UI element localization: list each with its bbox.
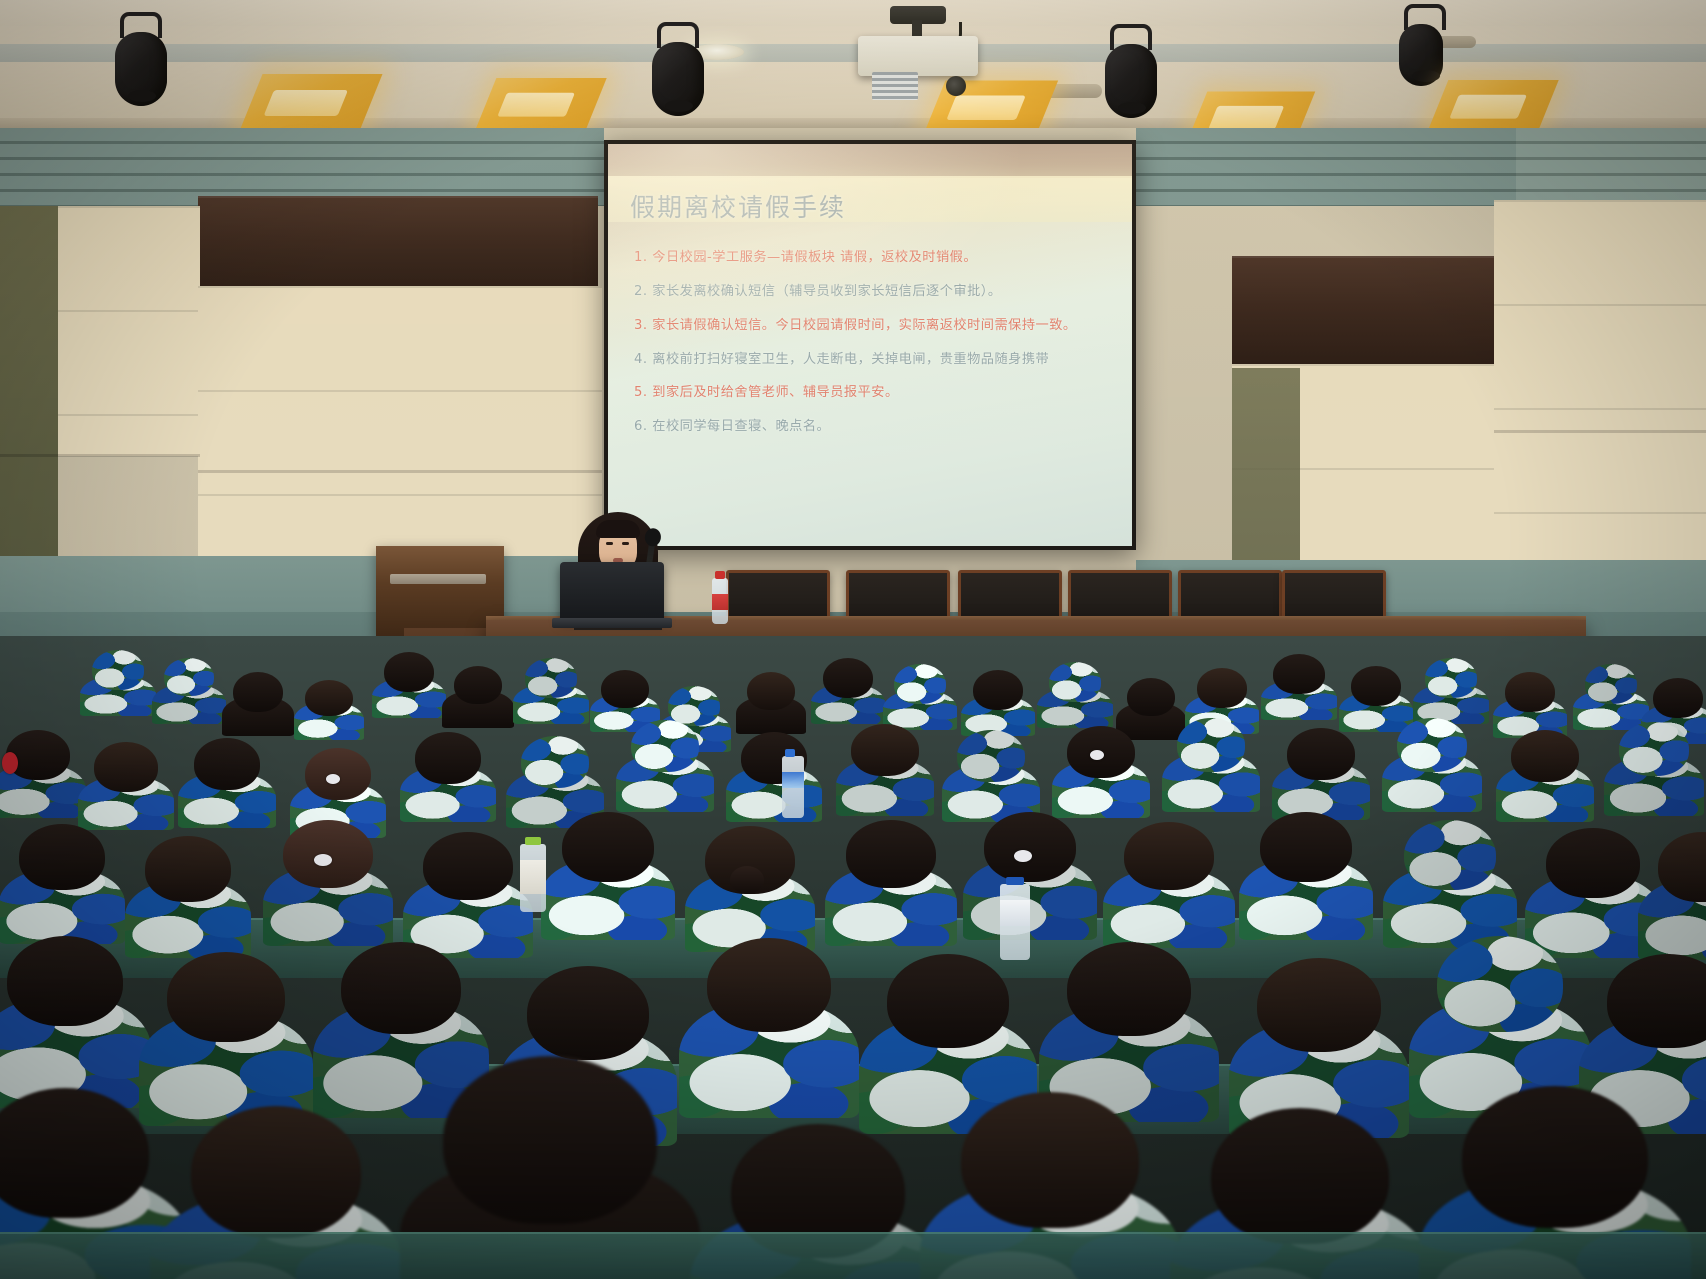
projection-screen: 假期离校请假手续 1. 今日校园-学工服务—请假板块 请假，返校及时销假。 2.…: [604, 140, 1136, 550]
bottle-cap: [715, 571, 725, 579]
camo-cap: [1397, 718, 1467, 772]
water-bottle: [712, 578, 728, 624]
slide-surface: 假期离校请假手续 1. 今日校园-学工服务—请假板块 请假，返校及时销假。 2.…: [608, 144, 1132, 546]
audience-head: [1273, 654, 1325, 694]
audience-head: [94, 742, 158, 792]
projector-grill: [872, 72, 918, 100]
slide-title: 假期离校请假手续: [630, 188, 1110, 224]
wall-seam: [1494, 430, 1706, 433]
audience-member: [880, 954, 1016, 1112]
bottle-label: [1000, 900, 1030, 926]
laptop: [560, 562, 664, 620]
audience-member: [890, 664, 950, 722]
audience-head: [1287, 728, 1355, 780]
audience-head: [851, 724, 919, 776]
audience-head: [1197, 668, 1247, 708]
audience-member: [1430, 936, 1570, 1096]
audience-head: [1127, 678, 1175, 716]
audience-member: [700, 826, 800, 936]
audience-member: [0, 936, 130, 1086]
audience-member: [1254, 812, 1358, 924]
spotlight-lens: [1412, 70, 1440, 82]
audience-head: [423, 832, 513, 900]
camo-cap: [164, 658, 214, 696]
audience-head: [961, 1092, 1139, 1228]
wall-seam: [0, 454, 200, 457]
wall-seam: [198, 470, 602, 473]
audience-member: [1250, 958, 1388, 1116]
hair-scrunchie: [314, 854, 332, 866]
spotlight-head: [1399, 24, 1443, 86]
audience-head: [167, 952, 285, 1042]
photo-scene: 假期离校请假手续 1. 今日校园-学工服务—请假板块 请假，返校及时销假。 2.…: [0, 0, 1706, 1279]
audience-member: [86, 650, 150, 710]
audience-member: [160, 952, 292, 1104]
audience-head: [1257, 958, 1381, 1052]
audience-head: [601, 670, 649, 708]
camo-cap: [957, 730, 1025, 782]
projector-body: [858, 36, 978, 76]
audience-member: [88, 742, 164, 818]
wall-slat-band: [200, 128, 604, 206]
audience-head: [454, 666, 502, 704]
presenter-eye-right: [622, 542, 629, 545]
audience-head: [887, 954, 1009, 1048]
audience-head: [7, 936, 123, 1026]
audience-member: [0, 730, 76, 806]
spotlight-lens: [665, 100, 693, 112]
camo-cap: [1177, 718, 1245, 772]
audience-head: [527, 966, 649, 1060]
audience-head: [305, 748, 371, 800]
audience-member: [158, 658, 220, 716]
slide-bullet-number: 4.: [634, 352, 648, 367]
camo-cap: [1585, 664, 1637, 704]
audience-member: [140, 836, 236, 942]
wall-panel-cream: [198, 286, 602, 586]
wall-panel-cream: [1494, 200, 1706, 604]
wall-slat-band: [1136, 128, 1516, 206]
slide-bullet-6: 6. 在校同学每日查寝、晚点名。: [634, 419, 1112, 435]
bottle-label: [782, 772, 804, 788]
audience-head: [384, 652, 434, 692]
slide-top-shadow: [608, 144, 1132, 178]
hair-scrunchie: [1014, 850, 1032, 862]
panel-light-plate: [473, 78, 606, 135]
audience-member: [300, 680, 358, 734]
audience-member: [952, 730, 1030, 810]
audience-member: [188, 738, 266, 816]
audience-head: [707, 938, 831, 1032]
track-spotlight-icon: [645, 22, 711, 118]
wall-slat-band: [1516, 128, 1706, 206]
slide-bullet-5: 5. 到家后及时给舍管老师、辅导员报平安。: [634, 385, 1112, 401]
camo-cap: [1049, 662, 1101, 702]
audience-head: [973, 670, 1023, 710]
spotlight-lens: [128, 90, 156, 102]
audience-head: [1260, 812, 1352, 882]
wall-column-olive: [0, 206, 58, 606]
audience-member: [1118, 822, 1220, 932]
audience-member: [1500, 672, 1560, 730]
slide-bullet-1: 1. 今日校园-学工服务—请假板块 请假，返校及时销假。: [634, 250, 1112, 266]
audience-member: [1060, 942, 1198, 1100]
audience-head: [283, 820, 373, 888]
audience-head: [1653, 678, 1703, 718]
audience-member: [14, 824, 110, 928]
audience-head: [191, 1106, 361, 1238]
audience-head: [846, 820, 936, 888]
audience-member: [228, 672, 288, 728]
audience-head: [145, 836, 231, 902]
presenter-bangs: [596, 520, 640, 538]
spotlight-lens: [1118, 102, 1146, 114]
slide-bullet-2: 2. 家长发离校确认短信（辅导员收到家长短信后逐个审批）。: [634, 284, 1112, 300]
audience-member: [556, 812, 660, 924]
audience-head: [443, 1056, 657, 1224]
audience-head: [0, 1088, 149, 1218]
audience-head: [823, 658, 873, 698]
slide-bullet-number: 6.: [634, 419, 648, 434]
audience-head: [1607, 954, 1706, 1048]
audience-member: [1420, 658, 1482, 716]
seat-row-front: [0, 1232, 1706, 1279]
audience-member: [818, 658, 878, 716]
audience-head: [562, 812, 654, 882]
audience-member: [1540, 828, 1646, 942]
audience-member: [1580, 664, 1642, 722]
slide-bullet-number: 5.: [634, 385, 648, 400]
bottle-cap: [1006, 877, 1024, 885]
audience-head: [747, 672, 795, 710]
ceiling-projector-icon: [852, 6, 984, 90]
camo-cap: [1425, 658, 1477, 698]
audience-member: [300, 748, 376, 826]
audience-member: [968, 670, 1028, 728]
audience-member: [840, 820, 942, 930]
audience-member: [1506, 730, 1584, 810]
audience-member: [1398, 820, 1502, 932]
audience-area: [0, 636, 1706, 1279]
audience-head: [1505, 672, 1555, 712]
camo-cap: [92, 650, 144, 690]
hair-scrunchie: [326, 774, 340, 784]
audience-member: [1346, 666, 1406, 724]
audience-member: [448, 666, 508, 722]
audience-head: [341, 942, 461, 1034]
bottle-label: [520, 860, 546, 894]
lectern: [376, 546, 504, 638]
track-spotlight-icon: [1392, 4, 1448, 84]
spotlight-head: [115, 32, 167, 106]
slide-bullet-text: 家长发离校确认短信（辅导员收到家长短信后逐个审批）。: [652, 284, 1001, 299]
audience-head: [305, 680, 353, 716]
slide-bullet-3: 3. 家长请假确认短信。今日校园请假时间，实际离返校时间需保持一致。: [634, 318, 1112, 334]
slide-bullet-number: 2.: [634, 284, 648, 299]
audience-head: [194, 738, 260, 790]
slide-bullet-text: 到家后及时给舍管老师、辅导员报平安。: [652, 385, 898, 400]
water-bottle: [782, 756, 804, 818]
audience-member: [1282, 728, 1360, 808]
camo-cap: [631, 720, 699, 772]
track-spotlight-icon: [108, 12, 174, 108]
camo-cap: [521, 736, 589, 788]
wall-slat-band: [0, 128, 200, 206]
audience-member: [626, 720, 704, 800]
audience-head: [233, 672, 283, 712]
spotlight-head: [1105, 44, 1157, 118]
audience-head: [1511, 730, 1579, 782]
camo-cap: [1404, 820, 1496, 890]
camo-cap: [1619, 722, 1689, 776]
bottle-cap: [785, 749, 795, 757]
spotlight-head: [652, 42, 704, 116]
audience-head: [1546, 828, 1640, 898]
audience-member: [742, 672, 800, 728]
audience-member: [1614, 722, 1694, 804]
audience-member: [1268, 654, 1330, 712]
water-bottle: [1000, 884, 1030, 960]
slide-body: 1. 今日校园-学工服务—请假板块 请假，返校及时销假。 2. 家长发离校确认短…: [634, 250, 1112, 453]
audience-head: [984, 812, 1076, 882]
hair-bun: [730, 866, 764, 894]
slide-bullet-4: 4. 离校前打扫好寝室卫生，人走断电，关掉电闸，贵重物品随身携带: [634, 352, 1112, 368]
audience-head: [1462, 1086, 1648, 1228]
panel-light-plate: [237, 74, 382, 136]
slide-bullet-text: 家长请假确认短信。今日校园请假时间，实际离返校时间需保持一致。: [652, 318, 1076, 333]
audience-member: [978, 812, 1082, 924]
audience-head: [1351, 666, 1401, 706]
audience-member: [1062, 726, 1140, 806]
slide-bullet-text: 今日校园-学工服务—请假板块 请假，返校及时销假。: [652, 250, 977, 265]
audience-member: [596, 670, 654, 726]
slide-bullet-number: 3.: [634, 318, 648, 333]
track-spotlight-icon: [1098, 24, 1164, 120]
slide-bullet-text: 在校同学每日查寝、晚点名。: [652, 419, 830, 434]
audience-member: [278, 820, 378, 930]
bottle-cap: [525, 837, 541, 845]
audience-member: [1044, 662, 1106, 720]
slide-bullet-number: 1.: [634, 250, 648, 265]
audience-head: [1124, 822, 1214, 890]
thermos-bottle: [520, 844, 546, 912]
presenter-eye-left: [606, 542, 613, 545]
audience-member: [378, 652, 440, 710]
audience-member: [520, 658, 582, 716]
audience-head: [1067, 942, 1191, 1036]
audience-head: [19, 824, 105, 890]
camo-cap: [894, 664, 946, 704]
audience-member: [846, 724, 924, 804]
audience-member: [1392, 718, 1472, 800]
bottle-label: [712, 594, 728, 610]
audience-member: [700, 938, 838, 1096]
camo-cap: [525, 658, 577, 698]
slide-bullet-text: 离校前打扫好寝室卫生，人走断电，关掉电闸，贵重物品随身携带: [652, 352, 1049, 367]
audience-member: [418, 832, 518, 942]
hair-scrunchie: [1090, 750, 1104, 760]
audience-head: [415, 732, 481, 784]
audience-member: [516, 736, 594, 816]
projector-lens: [946, 76, 966, 96]
audience-member: [410, 732, 486, 810]
wall-wood-panel: [198, 196, 598, 288]
hair-scrunchie: [2, 752, 18, 774]
audience-member: [1652, 832, 1706, 944]
audience-member: [1172, 718, 1250, 800]
audience-head: [1211, 1108, 1389, 1244]
camo-cap: [1437, 936, 1563, 1032]
